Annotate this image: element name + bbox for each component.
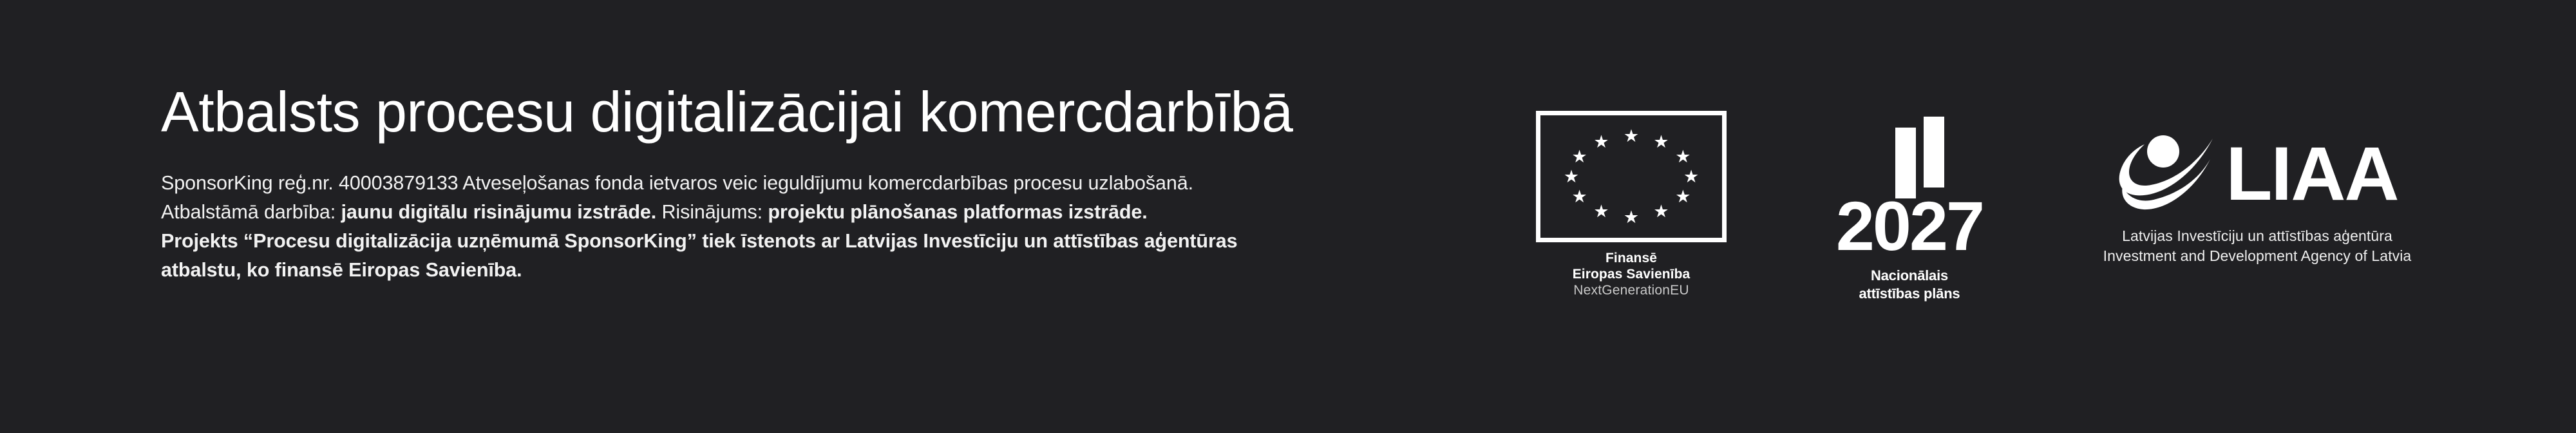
eu-flag-logo: ★ ★ ★ ★ ★ ★ ★ ★ ★ ★ ★ ★ Finansē Eiropas … [1531,111,1731,299]
nap-bar-right [1924,117,1944,188]
nap-bar-left [1895,128,1916,198]
liaa-subtitle-lv: Latvijas Investīciju un attīstības aģent… [2058,226,2457,246]
nap-subtitle-line-2: attīstības plāns [1803,285,2016,303]
body-line-4-bold: atbalstu, ko finansē Eiropas Savienība. [161,259,522,281]
promo-banner: Atbalsts procesu digitalizācijai komercd… [0,0,2576,433]
eu-caption-line-1: Finansē [1531,250,1731,266]
liaa-wordmark: LIAA [2226,136,2398,212]
body-paragraph: SponsorKing reģ.nr. 40003879133 Atveseļo… [161,169,1410,285]
text-block: Atbalsts procesu digitalizācijai komercd… [161,84,1410,285]
body-line-3-bold: Projekts “Procesu digitalizācija uzņēmum… [161,230,1237,252]
page-title: Atbalsts procesu digitalizācijai komercd… [161,84,1410,140]
body-line-2-bold-a: jaunu digitālu risinājumu izstrāde. [341,201,656,223]
eu-caption-line-2: Eiropas Savienība [1531,266,1731,282]
logo-strip: ★ ★ ★ ★ ★ ★ ★ ★ ★ ★ ★ ★ Finansē Eiropas … [1501,0,2531,433]
eu-flag-icon: ★ ★ ★ ★ ★ ★ ★ ★ ★ ★ ★ ★ [1536,111,1727,242]
body-line-3: Projekts “Procesu digitalizācija uzņēmum… [161,227,1410,256]
body-line-1: SponsorKing reģ.nr. 40003879133 Atveseļo… [161,169,1410,198]
nap-subtitle-line-1: Nacionālais [1803,267,2016,285]
body-line-4: atbalstu, ko finansē Eiropas Savienība. [161,256,1410,285]
nap-bars-icon [1803,115,2016,198]
body-line-2-mid: Risinājums: [656,201,768,223]
eu-caption-line-3: NextGenerationEU [1531,282,1731,299]
body-line-1-text: SponsorKing reģ.nr. 40003879133 Atveseļo… [161,172,1193,194]
body-line-2-bold-b: projektu plānošanas platformas izstrāde. [768,201,1147,223]
liaa-swoosh-icon [2116,126,2219,222]
nap-2027-logo: 2027 Nacionālais attīstības plāns [1803,115,2016,303]
nap-year: 2027 [1803,195,2016,258]
body-line-2-lead: Atbalstāmā darbība: [161,201,341,223]
body-line-2: Atbalstāmā darbība: jaunu digitālu risin… [161,198,1410,227]
liaa-subtitle-en: Investment and Development Agency of Lat… [2058,246,2457,266]
liaa-logo: LIAA Latvijas Investīciju un attīstības … [2058,126,2457,266]
